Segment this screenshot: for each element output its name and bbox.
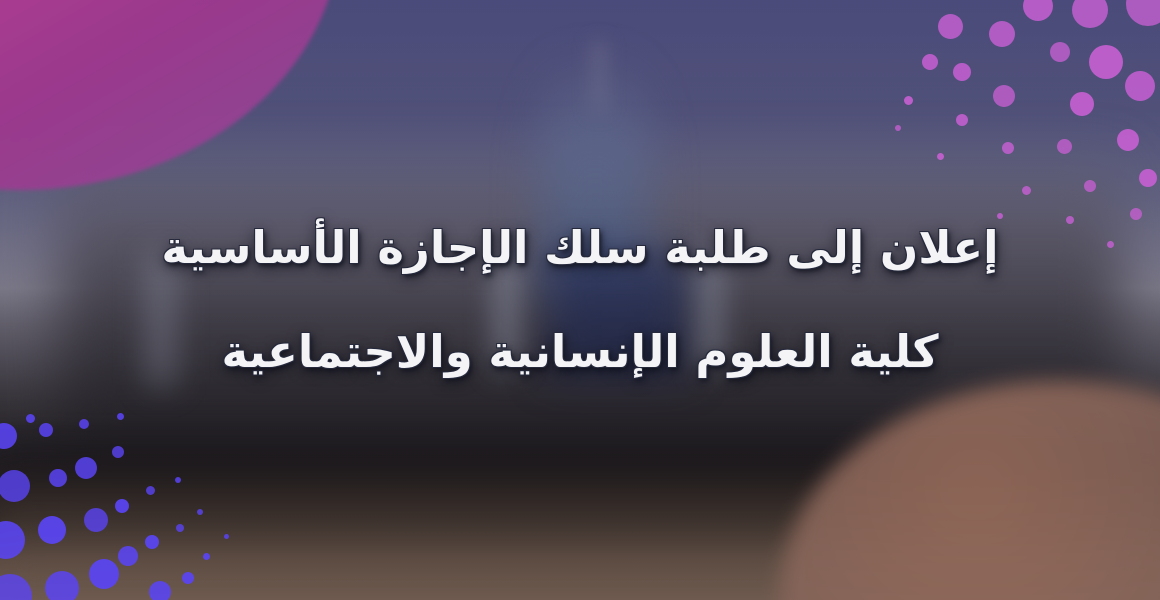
headline-line-2: كلية العلوم الإنسانية والاجتماعية — [222, 326, 939, 378]
announcement-banner: إعلان إلى طلبة سلك الإجازة الأساسية كلية… — [0, 0, 1160, 600]
headline-line-1: إعلان إلى طلبة سلك الإجازة الأساسية — [161, 222, 998, 274]
headline-block: إعلان إلى طلبة سلك الإجازة الأساسية كلية… — [0, 0, 1160, 600]
